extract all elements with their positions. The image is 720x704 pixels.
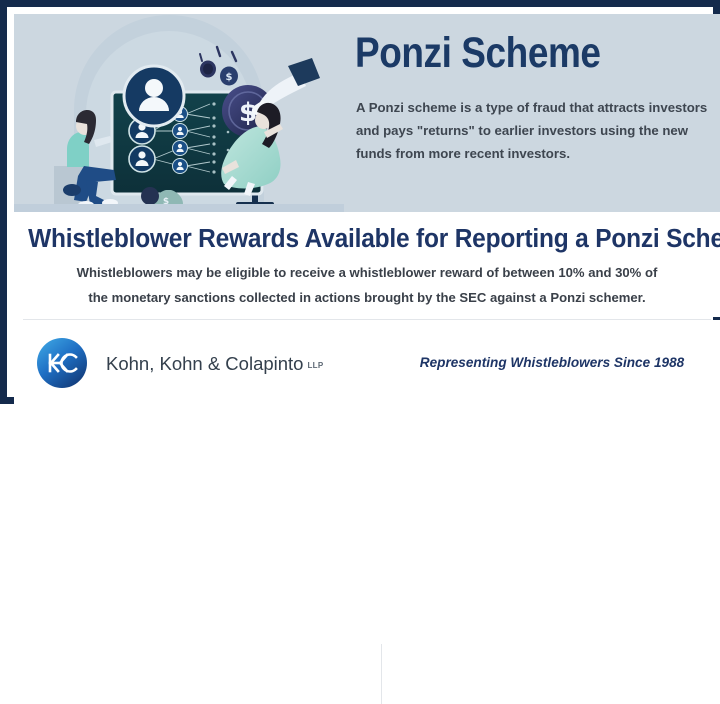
infographic-frame: $ $ — [0, 0, 720, 404]
firm-name: Kohn, Kohn & ColapintoLLP — [106, 353, 324, 375]
kkc-logo — [36, 337, 88, 389]
footer-band: Kohn, Kohn & ColapintoLLP Representing W… — [14, 320, 720, 404]
ponzi-pyramid-illustration: $ $ — [14, 14, 344, 212]
reward-body-line-1: Whistleblowers may be eligible to receiv… — [77, 265, 658, 280]
hero-description: A Ponzi scheme is a type of fraud that a… — [356, 96, 718, 165]
svg-text:$: $ — [226, 72, 233, 83]
firm-tagline: Representing Whistleblowers Since 1988 — [402, 355, 702, 370]
reward-band: Whistleblower Rewards Available for Repo… — [14, 212, 720, 317]
hero-band: $ $ — [14, 14, 720, 212]
firm-suffix: LLP — [307, 361, 323, 370]
reward-headline: Whistleblower Rewards Available for Repo… — [28, 224, 706, 254]
footer-vertical-divider — [381, 644, 382, 704]
page-title: Ponzi Scheme — [355, 30, 601, 76]
reward-body: Whistleblowers may be eligible to receiv… — [28, 260, 706, 310]
firm-name-text: Kohn, Kohn & Colapinto — [106, 353, 303, 374]
reward-body-line-2: the monetary sanctions collected in acti… — [28, 285, 706, 310]
hero-text-block: Ponzi Scheme A Ponzi scheme is a type of… — [347, 14, 720, 212]
